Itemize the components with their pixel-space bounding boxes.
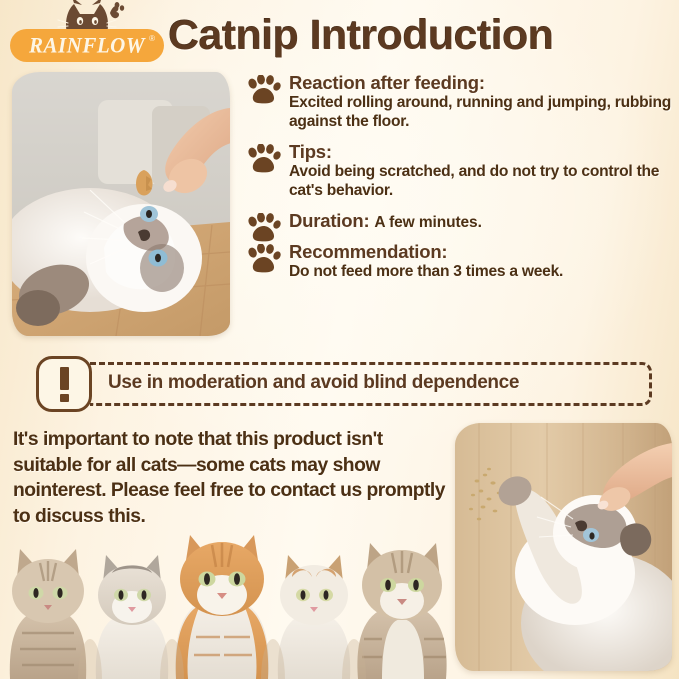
list-item: Reaction after feeding: Excited rolling … bbox=[245, 72, 673, 132]
list-item-heading-label: Duration: bbox=[289, 210, 369, 231]
exclamation-mark-icon bbox=[36, 356, 92, 412]
list-item-heading: Tips: bbox=[289, 141, 673, 162]
list-item-inline-value: A few minutes. bbox=[374, 214, 481, 231]
page-title: Catnip Introduction bbox=[168, 11, 553, 59]
paw-print-icon bbox=[247, 75, 281, 106]
list-item-body: Do not feed more than 3 times a week. bbox=[289, 263, 673, 282]
cat-scratching-board-photo bbox=[455, 423, 672, 671]
paw-print-icon bbox=[247, 213, 281, 244]
catnip-introduction-infographic: RAINFLOW ® Catnip Introduction bbox=[0, 0, 679, 679]
list-item-heading: Duration: A few minutes. bbox=[289, 210, 673, 232]
list-item: Duration: A few minutes. bbox=[245, 210, 673, 232]
paw-print-icon bbox=[247, 244, 281, 275]
bullet-list: Reaction after feeding: Excited rolling … bbox=[245, 72, 673, 291]
paw-print-icon bbox=[247, 144, 281, 175]
brand-logo[interactable]: RAINFLOW ® bbox=[10, 2, 170, 64]
important-note-text: It's important to note that this product… bbox=[13, 427, 445, 530]
list-item-body: Excited rolling around, running and jump… bbox=[289, 94, 673, 131]
list-item: Tips: Avoid being scratched, and do not … bbox=[245, 141, 673, 201]
banner-text: Use in moderation and avoid blind depend… bbox=[108, 372, 519, 394]
moderation-banner: Use in moderation and avoid blind depend… bbox=[36, 356, 652, 412]
five-cats-row-image bbox=[0, 529, 460, 679]
logo-pill: RAINFLOW ® bbox=[10, 29, 164, 62]
list-item: Recommendation: Do not feed more than 3 … bbox=[245, 241, 673, 282]
list-item-heading: Recommendation: bbox=[289, 241, 673, 262]
list-item-heading: Reaction after feeding: bbox=[289, 72, 673, 93]
registered-trademark-icon: ® bbox=[149, 34, 155, 43]
logo-text: RAINFLOW bbox=[29, 32, 145, 58]
cat-eating-catnip-treat-photo bbox=[12, 72, 230, 336]
list-item-body: Avoid being scratched, and do not try to… bbox=[289, 163, 673, 200]
